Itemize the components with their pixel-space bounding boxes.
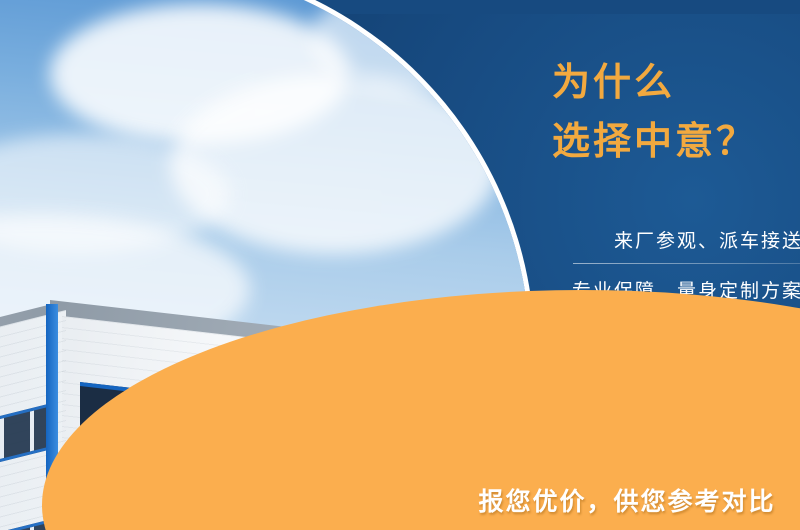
content-card: ZOONYE 中意矿机 zoonye 为什么 选择中 — [12, 14, 800, 530]
headline-line-2: 选择中意？ — [552, 113, 800, 172]
footer-text: 报您优价，供您参考对比 — [442, 482, 800, 518]
cloud — [170, 74, 500, 254]
headline-line-1: 为什么 — [552, 54, 800, 113]
feature-item-1[interactable]: 来厂参观、派车接送 — [537, 214, 800, 264]
headline: 为什么 选择中意？ — [552, 54, 800, 172]
window-mullion — [30, 410, 34, 451]
feature-label: 来厂参观、派车接送 — [614, 226, 800, 253]
promo-banner: ZOONYE 中意矿机 zoonye 为什么 选择中 — [0, 0, 800, 530]
window-mullion — [30, 526, 34, 530]
window-mullion — [0, 418, 4, 459]
